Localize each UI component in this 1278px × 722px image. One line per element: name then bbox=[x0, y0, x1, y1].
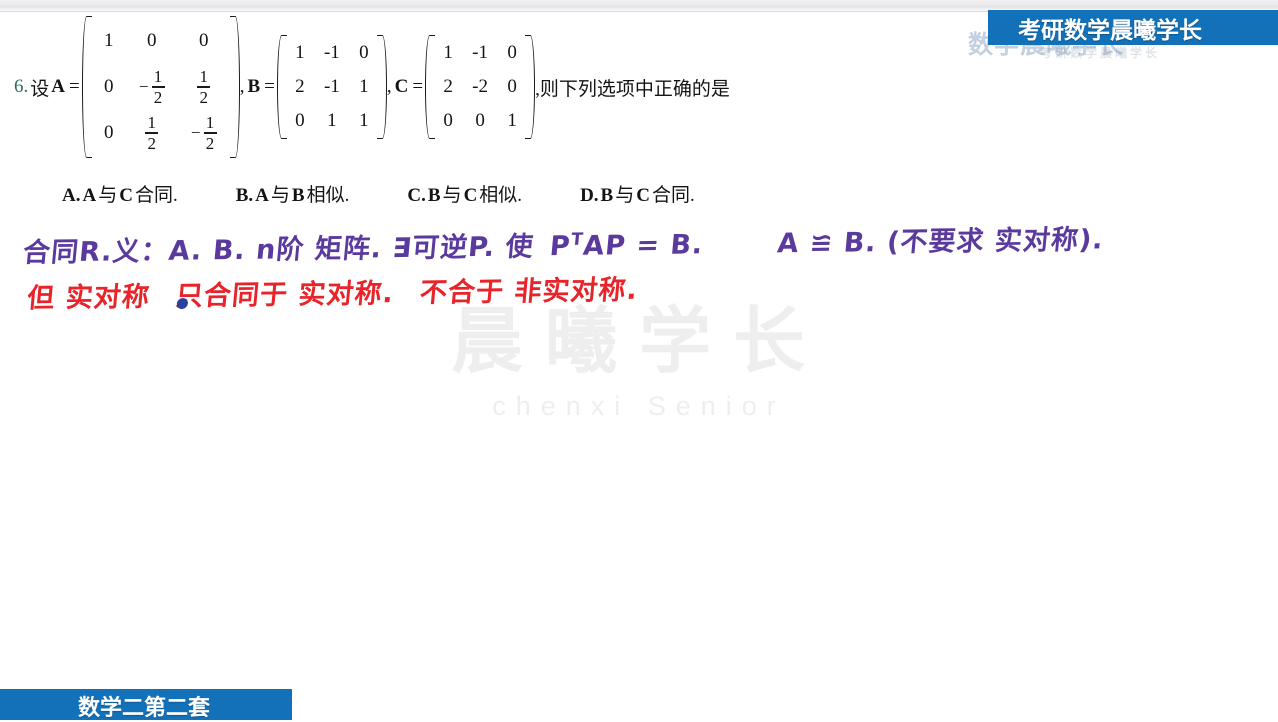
matrix-b-cell-0-1: -1 bbox=[324, 42, 340, 64]
matrix-c-cell-0-1: -1 bbox=[472, 42, 488, 64]
matrix-b-cell-0-0: 1 bbox=[295, 42, 305, 64]
matrix-c-cell-1-2: 0 bbox=[507, 76, 517, 98]
option-a-tail: 合同. bbox=[135, 185, 178, 206]
option-c-var2: C bbox=[462, 185, 480, 206]
annotation-line2-seg4: 不合于 非实对称. bbox=[419, 275, 640, 309]
matrix-b-left-bracket bbox=[277, 35, 287, 139]
annotation-line1-seg2-pre: P bbox=[548, 231, 572, 262]
equals-sign-a: = bbox=[67, 76, 82, 98]
option-a[interactable]: A.A与C合同. bbox=[62, 180, 178, 207]
option-a-var1: A bbox=[80, 185, 98, 206]
matrix-b-grid: 1 -1 0 2 -1 1 0 1 1 bbox=[287, 36, 377, 138]
option-a-label: A. bbox=[62, 185, 80, 206]
top-brand-banner: 考研数学晨曦学长 bbox=[988, 10, 1278, 45]
option-a-mid: 与 bbox=[98, 185, 117, 206]
matrix-b-cell-1-2: 1 bbox=[359, 76, 369, 98]
matrix-c-cell-0-0: 1 bbox=[443, 42, 453, 64]
question-line: 6. 设 A = 1 0 0 0 −12 12 0 12 bbox=[14, 16, 964, 158]
option-c-label: C. bbox=[407, 185, 425, 206]
matrix-a-right-bracket bbox=[230, 16, 240, 158]
option-d[interactable]: D.B与C合同. bbox=[580, 180, 695, 207]
matrix-c-cell-0-2: 0 bbox=[507, 42, 517, 64]
matrix-c-left-bracket bbox=[425, 35, 435, 139]
bottom-set-banner: 数学二第二套 bbox=[0, 689, 292, 720]
question-number: 6. bbox=[14, 76, 28, 98]
annotation-line1-seg1: 合同R.义：A. B. n阶 矩阵. ∃可逆P. 使 bbox=[22, 231, 536, 268]
matrix-a-cell-0-2: 0 bbox=[199, 30, 209, 52]
matrix-a-cell-2-2: −12 bbox=[191, 114, 217, 151]
question-block: 6. 设 A = 1 0 0 0 −12 12 0 12 bbox=[14, 16, 964, 158]
options-row: A.A与C合同. B.A与B相似. C.B与C相似. D.B与C合同. bbox=[62, 180, 695, 207]
watermark-english: chenxi Senior bbox=[0, 391, 1278, 422]
brand-banner-title: 考研数学晨曦学长 bbox=[1018, 11, 1202, 45]
matrix-a-cell-2-0: 0 bbox=[104, 122, 114, 144]
matrix-a-cell-1-1: −12 bbox=[139, 68, 165, 105]
matrix-b-label: B bbox=[245, 76, 262, 98]
annotation-line2-seg3: 合同于 实对称. bbox=[203, 278, 396, 312]
matrix-a-cell-0-0: 1 bbox=[104, 30, 114, 52]
matrix-a-grid: 1 0 0 0 −12 12 0 12 −12 bbox=[92, 18, 230, 156]
center-watermark: 晨曦学长 chenxi Senior bbox=[0, 300, 1278, 422]
equals-sign-b: = bbox=[262, 76, 277, 98]
matrix-b-cell-0-2: 0 bbox=[359, 42, 369, 64]
option-d-tail: 合同. bbox=[652, 185, 695, 206]
option-c-tail: 相似. bbox=[479, 185, 522, 206]
matrix-a-left-bracket bbox=[82, 16, 92, 158]
matrix-b-right-bracket bbox=[377, 35, 387, 139]
matrix-c-cell-1-1: -2 bbox=[472, 76, 488, 98]
matrix-b-cell-2-0: 0 bbox=[295, 110, 305, 132]
option-b-mid: 与 bbox=[271, 185, 290, 206]
matrix-c-cell-2-0: 0 bbox=[443, 110, 453, 132]
option-c-mid: 与 bbox=[443, 185, 462, 206]
option-d-mid: 与 bbox=[615, 185, 634, 206]
matrix-b-cell-1-1: -1 bbox=[324, 76, 340, 98]
matrix-c: 1 -1 0 2 -2 0 0 0 1 bbox=[425, 35, 535, 139]
handwritten-annotation-line-1: 合同R.义：A. B. n阶 矩阵. ∃可逆P. 使PTAP = B.A ≌ B… bbox=[22, 217, 1106, 269]
question-tail: ,则下列选项中正确的是 bbox=[535, 74, 730, 101]
option-b-var2: B bbox=[290, 185, 307, 206]
matrix-a-cell-1-2: 12 bbox=[197, 68, 210, 105]
matrix-c-right-bracket bbox=[525, 35, 535, 139]
matrix-a: 1 0 0 0 −12 12 0 12 −12 bbox=[82, 16, 240, 158]
matrix-c-cell-1-0: 2 bbox=[443, 76, 453, 98]
option-b[interactable]: B.A与B相似. bbox=[236, 180, 350, 207]
matrix-c-grid: 1 -1 0 2 -2 0 0 0 1 bbox=[435, 36, 525, 138]
option-a-var2: C bbox=[117, 185, 135, 206]
option-d-var2: C bbox=[634, 185, 652, 206]
option-d-var1: B bbox=[599, 185, 616, 206]
matrix-a-label: A bbox=[49, 76, 67, 98]
matrix-c-label: C bbox=[393, 76, 411, 98]
annotation-line2-seg1: 但 实对称 bbox=[26, 282, 151, 315]
option-b-tail: 相似. bbox=[307, 185, 350, 206]
annotation-line1-seg2-post: AP = B. bbox=[582, 229, 705, 261]
option-c[interactable]: C.B与C相似. bbox=[407, 180, 522, 207]
option-b-label: B. bbox=[236, 185, 253, 206]
matrix-b-cell-1-0: 2 bbox=[295, 76, 305, 98]
question-lead: 设 bbox=[30, 74, 49, 101]
matrix-a-cell-1-0: 0 bbox=[104, 76, 114, 98]
brand-ghost-watermark-sub: 考研数学晨曦学长 bbox=[1040, 44, 1278, 64]
equals-sign-c: = bbox=[410, 76, 425, 98]
bottom-banner-title: 数学二第二套 bbox=[78, 690, 210, 722]
matrix-b-cell-2-1: 1 bbox=[327, 110, 337, 132]
matrix-a-cell-0-1: 0 bbox=[147, 30, 157, 52]
annotation-line1-seg3: A ≌ B. (不要求 实对称). bbox=[776, 224, 1105, 259]
matrix-c-cell-2-1: 0 bbox=[475, 110, 485, 132]
option-d-label: D. bbox=[580, 185, 598, 206]
matrix-c-cell-2-2: 1 bbox=[507, 110, 517, 132]
matrix-b: 1 -1 0 2 -1 1 0 1 1 bbox=[277, 35, 387, 139]
option-c-var1: B bbox=[426, 185, 443, 206]
handwritten-annotation-line-2: 但 实对称只合同于 实对称.不合于 非实对称. bbox=[26, 268, 640, 316]
matrix-a-cell-2-1: 12 bbox=[145, 114, 158, 151]
matrix-b-cell-2-2: 1 bbox=[359, 110, 369, 132]
option-b-var1: A bbox=[253, 185, 271, 206]
